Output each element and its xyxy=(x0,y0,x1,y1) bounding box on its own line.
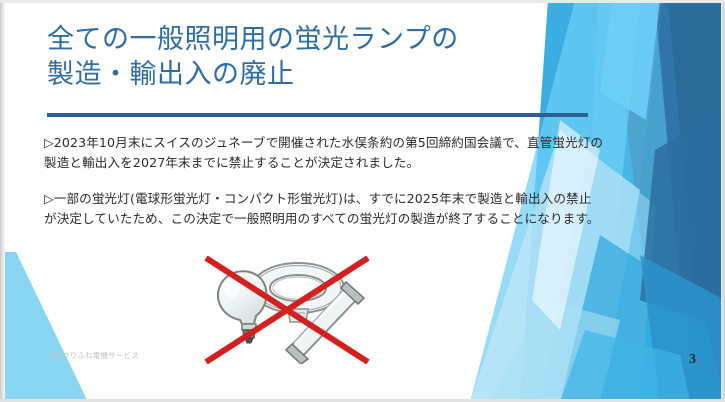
slide-edge-right xyxy=(721,0,725,402)
slide-body: ▷2023年10月末にスイスのジュネーブで開催された水俣条約の第5回締約国会議で… xyxy=(44,133,604,230)
title-underline-rule xyxy=(47,113,588,117)
page-number: 3 xyxy=(689,352,696,368)
slide-canvas: 全ての一般照明用の蛍光ランプの 製造・輸出入の廃止 ▷2023年10月末にスイス… xyxy=(0,0,725,402)
slide-edge-left xyxy=(0,0,5,402)
slide-title-line2: 製造・輸出入の廃止 xyxy=(47,58,607,93)
body-paragraph-1: ▷2023年10月末にスイスのジュネーブで開催された水俣条約の第5回締約国会議で… xyxy=(44,133,604,174)
body-paragraph-2: ▷一部の蛍光灯(電球形蛍光灯・コンパクト形蛍光灯)は、すでに2025年末で製造と… xyxy=(44,189,604,230)
footer-company-note: (株)つりふね電機サービス xyxy=(48,350,139,361)
slide-title-line1: 全ての一般照明用の蛍光ランプの xyxy=(47,23,607,58)
slide-title: 全ての一般照明用の蛍光ランプの 製造・輸出入の廃止 xyxy=(47,23,607,92)
fluorescent-lamps-prohibited-illustration xyxy=(196,256,381,364)
slide-edge-top xyxy=(0,0,725,3)
